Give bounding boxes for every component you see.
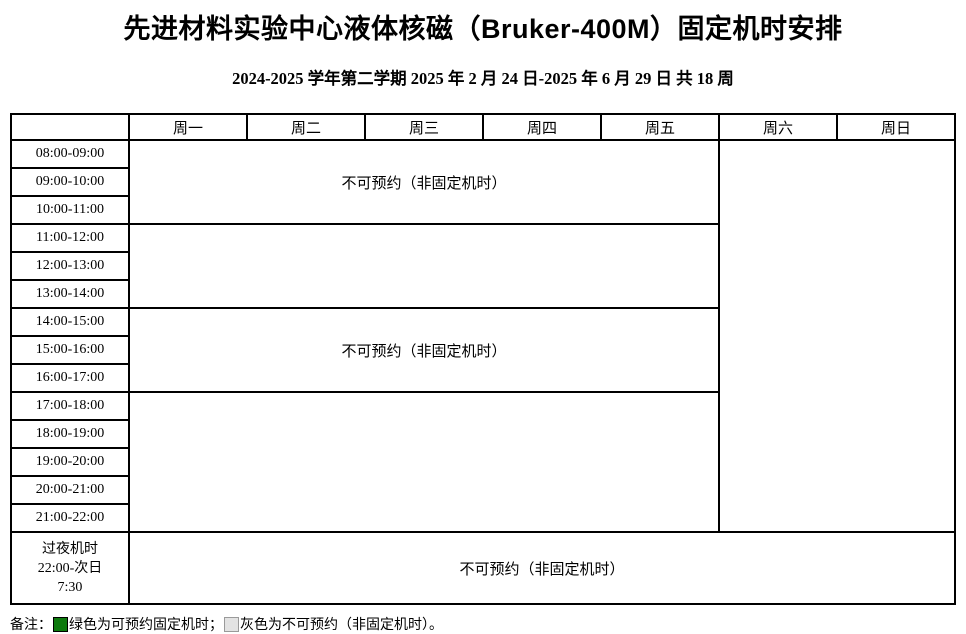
time-slot-label: 17:00-18:00: [11, 392, 129, 420]
legend-green-swatch-icon: [53, 617, 68, 632]
time-slot-label: 16:00-17:00: [11, 364, 129, 392]
time-slot-label: 10:00-11:00: [11, 196, 129, 224]
header-corner-cell: [11, 114, 129, 140]
legend-gray-text: 灰色为不可预约（非固定机时）。: [240, 614, 443, 634]
schedule-table: 周一 周二 周三 周四 周五 周六 周日 08:00-09:00 不可预约（非固…: [10, 113, 956, 605]
time-slot-label: 15:00-16:00: [11, 336, 129, 364]
table-header-row: 周一 周二 周三 周四 周五 周六 周日: [11, 114, 955, 140]
schedule-page: 先进材料实验中心液体核磁（Bruker-400M）固定机时安排 2024-202…: [0, 0, 966, 620]
day-header-friday: 周五: [601, 114, 719, 140]
day-header-tuesday: 周二: [247, 114, 365, 140]
table-row-overnight: 过夜机时 22:00-次日 7:30 不可预约（非固定机时）: [11, 532, 955, 604]
legend-note: 备注： 绿色为可预约固定机时； 灰色为不可预约（非固定机时）。: [10, 614, 966, 634]
schedule-table-wrapper: 周一 周二 周三 周四 周五 周六 周日 08:00-09:00 不可预约（非固…: [10, 113, 956, 605]
time-slot-label: 09:00-10:00: [11, 168, 129, 196]
time-slot-label: 11:00-12:00: [11, 224, 129, 252]
time-slot-label: 12:00-13:00: [11, 252, 129, 280]
time-slot-label: 21:00-22:00: [11, 504, 129, 532]
time-slot-label: 20:00-21:00: [11, 476, 129, 504]
time-slot-label: 14:00-15:00: [11, 308, 129, 336]
slot-block-weekday-evening-bookable[interactable]: 可预约固定机时: [129, 392, 719, 532]
slot-block-weekday-midday-bookable[interactable]: 可预约固定机时: [129, 224, 719, 308]
schedule-table-head: 周一 周二 周三 周四 周五 周六 周日: [11, 114, 955, 140]
schedule-table-body: 08:00-09:00 不可预约（非固定机时） 可预约固定机时 09:00-10…: [11, 140, 955, 604]
overnight-label-line-1: 过夜机时: [12, 540, 128, 559]
time-slot-label: 08:00-09:00: [11, 140, 129, 168]
slot-block-weekend-bookable[interactable]: 可预约固定机时: [719, 140, 955, 532]
overnight-label-line-3: 7:30: [12, 578, 128, 597]
day-header-thursday: 周四: [483, 114, 601, 140]
slot-block-weekday-morning-unavailable[interactable]: 不可预约（非固定机时）: [129, 140, 719, 224]
page-title: 先进材料实验中心液体核磁（Bruker-400M）固定机时安排: [0, 0, 966, 48]
day-header-monday: 周一: [129, 114, 247, 140]
legend-gray-swatch-icon: [224, 617, 239, 632]
day-header-wednesday: 周三: [365, 114, 483, 140]
legend-prefix: 备注：: [10, 614, 52, 634]
table-row: 08:00-09:00 不可预约（非固定机时） 可预约固定机时: [11, 140, 955, 168]
page-subtitle: 2024-2025 学年第二学期 2025 年 2 月 24 日-2025 年 …: [0, 65, 966, 89]
slot-block-overnight-unavailable[interactable]: 不可预约（非固定机时）: [129, 532, 955, 604]
slot-block-weekday-afternoon-unavailable[interactable]: 不可预约（非固定机时）: [129, 308, 719, 392]
overnight-label-line-2: 22:00-次日: [12, 559, 128, 578]
time-slot-label: 13:00-14:00: [11, 280, 129, 308]
legend-green-text: 绿色为可预约固定机时；: [69, 614, 223, 634]
overnight-time-label: 过夜机时 22:00-次日 7:30: [11, 532, 129, 604]
day-header-saturday: 周六: [719, 114, 837, 140]
time-slot-label: 18:00-19:00: [11, 420, 129, 448]
day-header-sunday: 周日: [837, 114, 955, 140]
time-slot-label: 19:00-20:00: [11, 448, 129, 476]
